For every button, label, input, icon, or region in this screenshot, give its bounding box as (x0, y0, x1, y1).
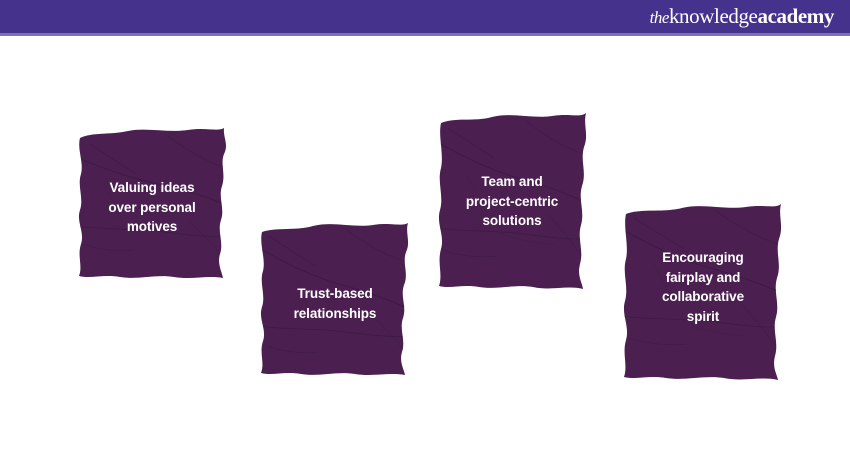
logo-knowledge-text: knowledge (669, 4, 758, 28)
value-card-encouraging-fairplay: Encouraging fairplay and collaborative s… (618, 198, 788, 384)
value-card-label: Encouraging fairplay and collaborative s… (618, 248, 788, 326)
value-card-team-project-centric: Team and project-centric solutions (432, 108, 592, 294)
value-card-valuing-ideas: Valuing ideas over personal motives (72, 122, 232, 284)
value-card-trust-based: Trust-based relationships (255, 218, 415, 380)
torn-cards-group: Valuing ideas over personal motives Trus… (0, 36, 850, 450)
brand-logo: theknowledgeacademy (650, 3, 834, 31)
value-card-label: Team and project-centric solutions (432, 172, 592, 231)
logo-the-text: the (650, 8, 669, 27)
value-card-label: Trust-based relationships (255, 284, 415, 323)
value-card-label: Valuing ideas over personal motives (72, 178, 232, 237)
logo-academy-text: academy (757, 4, 834, 28)
